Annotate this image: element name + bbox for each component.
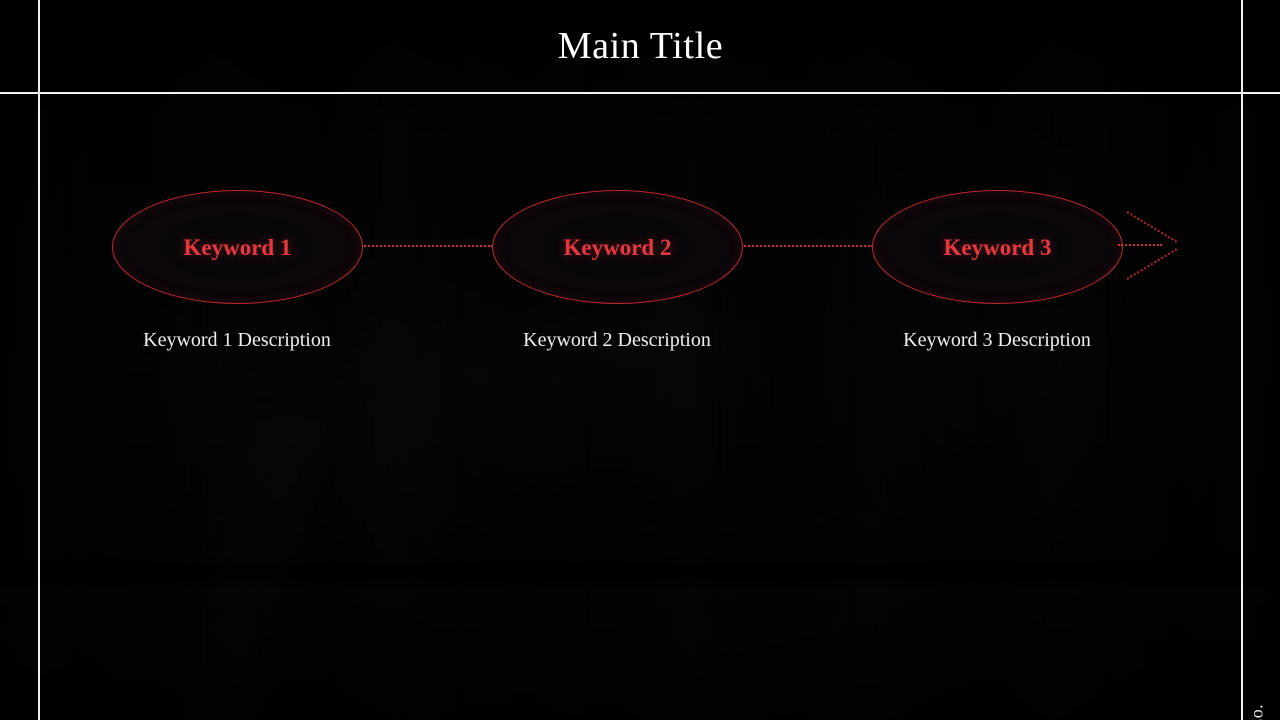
- keyword-ellipse-1[interactable]: Keyword 1: [112, 190, 363, 304]
- brand-watermark: Miridih & Co.: [1248, 704, 1266, 720]
- frame-line-left: [38, 0, 40, 720]
- keyword-label-2: Keyword 2: [564, 236, 672, 259]
- keyword-label-3: Keyword 3: [944, 236, 1052, 259]
- frame-line-top: [0, 92, 1280, 94]
- slide-canvas: Main Title Keyword 1 Keyword 1 Descripti…: [0, 0, 1280, 720]
- keyword-description-1: Keyword 1 Description: [87, 330, 387, 350]
- background-photo: [0, 0, 1280, 720]
- background-vignette: [0, 0, 1280, 720]
- keyword-ellipse-3[interactable]: Keyword 3: [872, 190, 1123, 304]
- keyword-description-3: Keyword 3 Description: [847, 330, 1147, 350]
- page-title: Main Title: [558, 27, 723, 65]
- keyword-label-1: Keyword 1: [184, 236, 292, 259]
- keyword-ellipse-2[interactable]: Keyword 2: [492, 190, 743, 304]
- keyword-description-2: Keyword 2 Description: [467, 330, 767, 350]
- title-bar: Main Title: [39, 0, 1242, 92]
- frame-line-right: [1241, 0, 1243, 720]
